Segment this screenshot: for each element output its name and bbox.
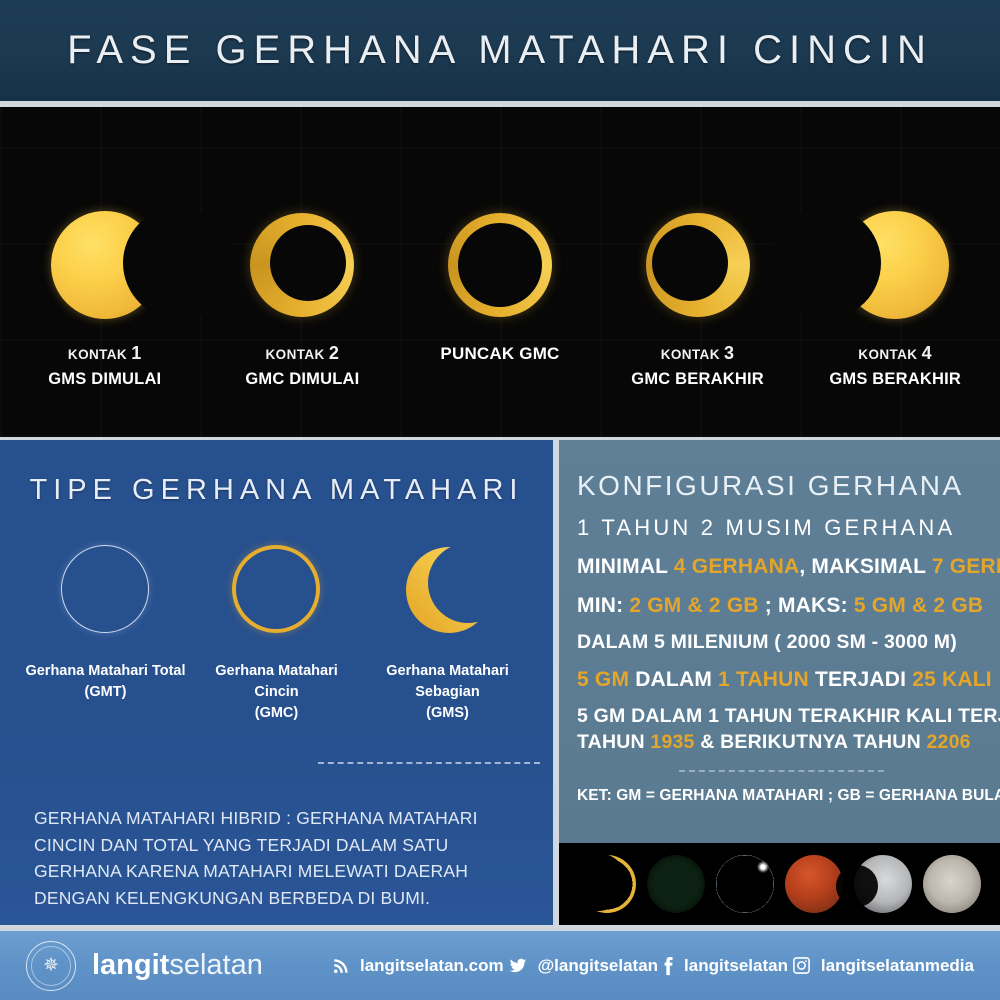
sun-bite-left-icon	[835, 205, 955, 325]
left-panel-divider	[318, 762, 540, 764]
phase-item-4: KONTAK 3 GMC BERAKHIR	[602, 107, 794, 391]
total-corona-photo	[716, 855, 774, 913]
config-line-5gm-frequency: 5 GM DALAM 1 TAHUN TERJADI 25 KALI	[577, 667, 986, 692]
config-line-min-max-types: MIN: 2 GM & 2 GB ; MAKS: 5 GM & 2 GB	[577, 593, 986, 618]
phase-sub-label-5: GMS BERAKHIR	[829, 368, 961, 391]
config-line-years: TAHUN 1935 & BERIKUTNYA TAHUN 2206	[577, 731, 986, 754]
eclipse-total-icon	[59, 543, 153, 637]
eclipse-type-total: Gerhana Matahari Total (GMT)	[22, 543, 190, 703]
config-line-seasons: 1 TAHUN 2 MUSIM GERHANA	[577, 515, 986, 541]
phase-kontak-number-4: 3	[724, 343, 734, 363]
infographic-poster: FASE GERHANA MATAHARI CINCIN KONTAK 1 GM…	[0, 0, 1000, 1000]
annular-dark-ring-photo	[647, 855, 705, 913]
phase-sub-label-3: PUNCAK GMC	[440, 342, 559, 366]
phase-kontak-number-1: 1	[131, 343, 141, 363]
phase-sub-label-4: GMC BERAKHIR	[631, 368, 764, 391]
ring-even-icon	[440, 205, 560, 325]
phase-item-1: KONTAK 1 GMS DIMULAI	[9, 107, 201, 391]
config-legend-text: KET: GM = GERHANA MATAHARI ; GB = GERHAN…	[577, 787, 986, 805]
eclipse-annular-icon	[230, 543, 324, 637]
ring-thick-left-icon	[242, 205, 362, 325]
crescent-shape	[405, 543, 493, 637]
eclipse-phases-section: KONTAK 1 GMS DIMULAI KONTAK 2 GMC DIMULA…	[0, 107, 1000, 437]
header-banner: FASE GERHANA MATAHARI CINCIN	[0, 0, 1000, 104]
hybrid-eclipse-description: GERHANA MATAHARI HIBRID : GERHANA MATAHA…	[34, 805, 534, 911]
langitselatan-seal-icon: ✵	[26, 941, 76, 991]
eclipse-types-row: Gerhana Matahari Total (GMT) Gerhana Mat…	[20, 543, 533, 724]
brand-block[interactable]: ✵ langitselatan	[0, 941, 330, 991]
config-panel-title: KONFIGURASI GERHANA	[577, 470, 986, 502]
eclipse-type-partial-abbr: (GMS)	[364, 703, 532, 724]
rss-icon	[332, 957, 350, 975]
phase-kontak-label-1: KONTAK 1	[48, 341, 161, 367]
brand-name-bold: langit	[92, 949, 169, 981]
brand-name: langitselatan	[92, 949, 263, 982]
annular-crescent-photo	[578, 855, 636, 913]
facebook-icon	[662, 956, 674, 976]
config-line-millennium: DALAM 5 MILENIUM ( 2000 SM - 3000 M)	[577, 631, 986, 654]
seal-glyph: ✵	[43, 956, 59, 975]
sun-bite-right-icon	[45, 205, 165, 325]
phase-kontak-number-2: 2	[329, 343, 339, 363]
phase-item-3: PUNCAK GMC	[404, 107, 596, 366]
types-panel-title: TIPE GERHANA MATAHARI	[20, 474, 533, 507]
phase-sub-label-2: GMC DIMULAI	[245, 368, 359, 391]
footer-bar: ✵ langitselatan langitselatan.com	[0, 928, 1000, 1000]
ring-thick-right-icon	[638, 205, 758, 325]
eclipse-type-annular-abbr: (GMC)	[193, 703, 361, 724]
social-twitter-label: @langitselatan	[538, 956, 659, 976]
config-line-min-max-eclipses: MINIMAL 4 GERHANA, MAKSIMAL 7 GERHANA	[577, 554, 986, 579]
eclipse-type-total-name: Gerhana Matahari Total	[25, 661, 185, 682]
phase-item-2: KONTAK 2 GMC DIMULAI	[206, 107, 398, 391]
phase-item-5: KONTAK 4 GMS BERAKHIR	[799, 107, 991, 391]
right-panel-divider	[679, 770, 884, 772]
social-facebook[interactable]: langitselatan	[662, 956, 788, 976]
phase-kontak-label-4: KONTAK 3	[631, 341, 764, 367]
social-website[interactable]: langitselatan.com	[332, 956, 504, 976]
brand-name-light: selatan	[169, 949, 263, 981]
eclipse-type-partial-name: Gerhana Matahari Sebagian	[364, 661, 532, 703]
social-website-label: langitselatan.com	[360, 956, 504, 976]
eclipse-type-annular: Gerhana Matahari Cincin (GMC)	[193, 543, 361, 724]
eclipse-photo-strip	[559, 843, 1000, 925]
eclipse-type-total-abbr: (GMT)	[25, 682, 185, 703]
phase-kontak-number-5: 4	[922, 343, 932, 363]
eclipse-partial-icon	[401, 543, 495, 637]
eclipse-type-partial: Gerhana Matahari Sebagian (GMS)	[364, 543, 532, 724]
phase-sub-label-1: GMS DIMULAI	[48, 368, 161, 391]
phase-kontak-label-5: KONTAK 4	[829, 341, 961, 367]
blood-moon-photo	[785, 855, 843, 913]
instagram-icon	[792, 956, 811, 975]
social-facebook-label: langitselatan	[684, 956, 788, 976]
social-twitter[interactable]: @langitselatan	[508, 956, 659, 976]
full-moon-photo	[923, 855, 981, 913]
social-instagram[interactable]: langitselatanmedia	[792, 956, 974, 976]
partial-lunar-photo	[854, 855, 912, 913]
social-links: langitselatan.com @langitselatan langits…	[330, 956, 1000, 976]
phase-kontak-label-2: KONTAK 2	[245, 341, 359, 367]
page-title: FASE GERHANA MATAHARI CINCIN	[67, 28, 933, 73]
social-instagram-label: langitselatanmedia	[821, 956, 974, 976]
eclipse-type-annular-name: Gerhana Matahari Cincin	[193, 661, 361, 703]
twitter-icon	[508, 957, 528, 975]
config-line-last-occurrence: 5 GM DALAM 1 TAHUN TERAKHIR KALI TERJADI	[577, 705, 986, 728]
